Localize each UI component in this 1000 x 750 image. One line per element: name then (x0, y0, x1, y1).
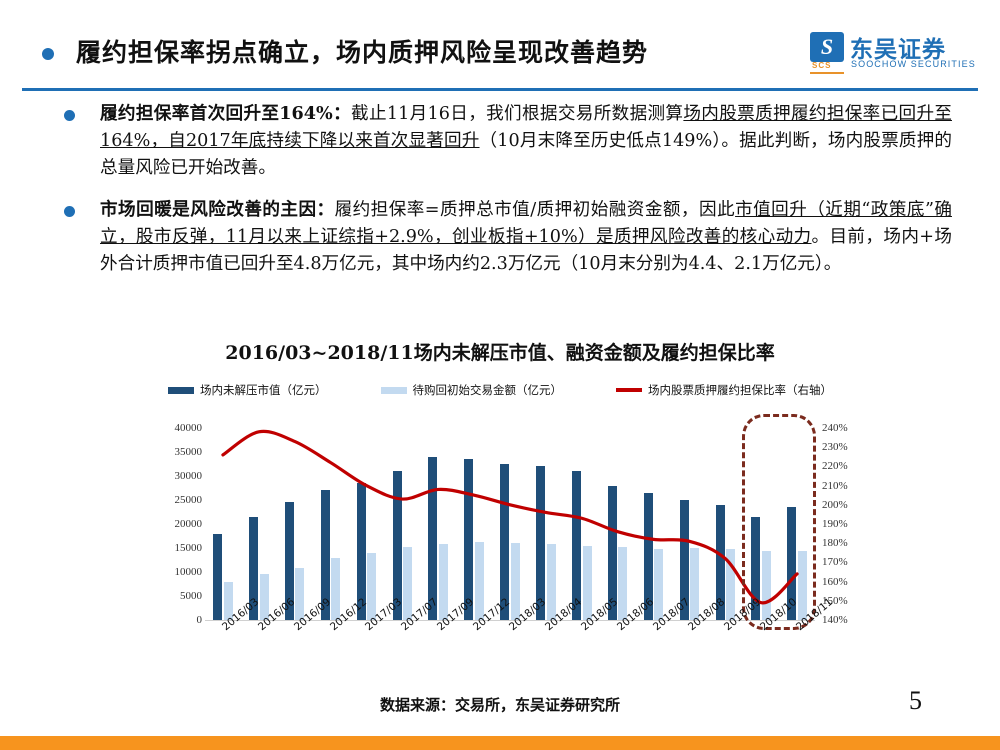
header-divider (22, 88, 978, 91)
y-tick-label: 25000 (175, 494, 203, 506)
bullet-1-lead: 履约担保率首次回升至164% (100, 103, 333, 124)
legend-item-2: 待购回初始交易金额（亿元） (381, 382, 563, 398)
bullet-2-lead: 市场回暖是风险改善的主因 (100, 199, 317, 220)
legend-swatch-icon (616, 388, 642, 392)
slide: 履约担保率拐点确立，场内质押风险呈现改善趋势 S SCS 东吴证券 SOOCHO… (0, 0, 1000, 750)
bullet-block-2: 市场回暖是风险改善的主因：履约担保率=质押总市值/质押初始融资金额，因此市值回升… (0, 196, 1000, 278)
legend-label: 场内未解压市值（亿元） (200, 382, 327, 398)
slide-body: 履约担保率首次回升至164%：截止11月16日，我们根据交易所数据测算场内股票质… (0, 100, 1000, 292)
page-number: 5 (909, 686, 922, 716)
chart-plot-area: 0500010000150002000025000300003500040000… (0, 420, 1000, 688)
bullet-1-colon: ： (333, 103, 351, 124)
bullet-block-1: 履约担保率首次回升至164%：截止11月16日，我们根据交易所数据测算场内股票质… (0, 100, 1000, 182)
slide-header: 履约担保率拐点确立，场内质押风险呈现改善趋势 S SCS 东吴证券 SOOCHO… (0, 0, 1000, 88)
y2-tick-label: 180% (822, 537, 848, 549)
page-title: 履约担保率拐点确立，场内质押风险呈现改善趋势 (76, 33, 648, 69)
bullet-2-colon: ： (317, 199, 335, 220)
bullet-1-text-1: 截止11月16日，我们根据交易所数据测算 (351, 104, 683, 124)
logo-underline (810, 72, 844, 74)
footer-accent-bar (0, 736, 1000, 750)
y2-tick-label: 190% (822, 518, 848, 530)
logo-mark-letter: S (810, 32, 844, 62)
bullet-paragraph-1: 履约担保率首次回升至164%：截止11月16日，我们根据交易所数据测算场内股票质… (100, 100, 952, 182)
legend-label: 待购回初始交易金额（亿元） (413, 382, 563, 398)
legend-swatch-icon (381, 387, 407, 394)
y2-tick-label: 240% (822, 422, 848, 434)
y-tick-label: 20000 (175, 518, 203, 530)
logo-mark-icon: S (810, 32, 844, 62)
logo-abbr: SCS (812, 61, 831, 70)
chart-line-series (205, 428, 815, 620)
y-tick-label: 0 (197, 614, 203, 626)
y2-tick-label: 140% (822, 614, 848, 626)
chart-x-axis-labels: 2016/032016/062016/092016/122017/032017/… (205, 624, 815, 684)
y2-tick-label: 220% (822, 460, 848, 472)
legend-item-3: 场内股票质押履约担保比率（右轴） (616, 382, 832, 398)
y2-tick-label: 200% (822, 499, 848, 511)
chart: 2016/03~2018/11场内未解压市值、融资金额及履约担保比率 场内未解压… (0, 338, 1000, 688)
data-source-note: 数据来源：交易所，东吴证券研究所 (0, 694, 1000, 715)
y-tick-label: 35000 (175, 446, 203, 458)
legend-item-1: 场内未解压市值（亿元） (168, 382, 327, 398)
y-tick-label: 10000 (175, 566, 203, 578)
company-logo: S SCS 东吴证券 SOOCHOW SECURITIES (810, 30, 970, 78)
y2-tick-label: 230% (822, 441, 848, 453)
legend-swatch-icon (168, 387, 194, 394)
chart-y-axis-left: 0500010000150002000025000300003500040000 (150, 420, 202, 628)
chart-legend: 场内未解压市值（亿元）待购回初始交易金额（亿元）场内股票质押履约担保比率（右轴） (0, 382, 1000, 398)
bullet-dot-icon (64, 206, 75, 217)
logo-company-name-en: SOOCHOW SECURITIES (851, 59, 976, 69)
guarantee-ratio-line (223, 431, 797, 602)
header-bullet-icon (42, 48, 54, 60)
bullet-paragraph-2: 市场回暖是风险改善的主因：履约担保率=质押总市值/质押初始融资金额，因此市值回升… (100, 196, 952, 278)
bullet-dot-icon (64, 110, 75, 121)
chart-y-axis-right: 140%150%160%170%180%190%200%210%220%230%… (822, 420, 878, 628)
legend-label: 场内股票质押履约担保比率（右轴） (648, 382, 832, 398)
y-tick-label: 15000 (175, 542, 203, 554)
chart-title: 2016/03~2018/11场内未解压市值、融资金额及履约担保比率 (0, 338, 1000, 365)
y2-tick-label: 170% (822, 556, 848, 568)
y-tick-label: 30000 (175, 470, 203, 482)
y2-tick-label: 160% (822, 576, 848, 588)
bullet-2-text-1: 履约担保率=质押总市值/质押初始融资金额，因此 (335, 200, 735, 220)
y2-tick-label: 210% (822, 480, 848, 492)
y-tick-label: 5000 (180, 590, 202, 602)
y-tick-label: 40000 (175, 422, 203, 434)
